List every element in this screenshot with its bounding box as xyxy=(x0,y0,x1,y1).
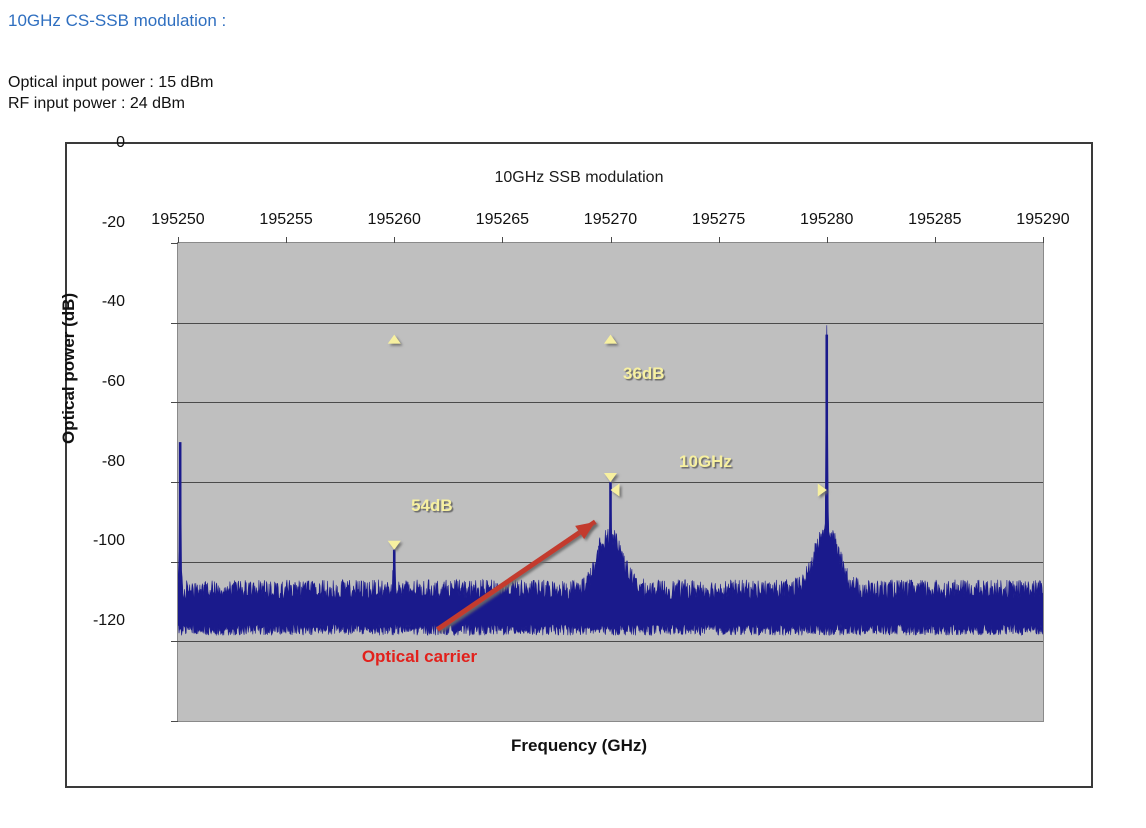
y-axis-label: Optical power (dB) xyxy=(59,293,79,444)
y-tick-label: -20 xyxy=(102,214,125,232)
y-tick-mark xyxy=(171,482,178,483)
optical-carrier-label: Optical carrier xyxy=(362,647,477,667)
x-tick-label: 195260 xyxy=(368,211,421,229)
annotation-overlay xyxy=(178,243,1043,721)
y-tick-label: -80 xyxy=(102,453,125,471)
y-tick-label: -40 xyxy=(102,293,125,311)
y-tick-mark xyxy=(171,243,178,244)
x-axis-label: Frequency (GHz) xyxy=(67,736,1091,756)
y-tick-mark xyxy=(171,402,178,403)
plot-area: 1952501952551952601952651952701952751952… xyxy=(177,242,1044,722)
x-tick-label: 195250 xyxy=(151,211,204,229)
x-tick-mark xyxy=(1043,237,1044,243)
y-tick-label: -60 xyxy=(102,373,125,391)
x-tick-label: 195270 xyxy=(584,211,637,229)
y-tick-mark xyxy=(171,641,178,642)
arrow-head xyxy=(388,541,401,550)
x-tick-label: 195255 xyxy=(259,211,312,229)
arrow-head xyxy=(611,483,620,496)
chart-frame: 10GHz SSB modulation 1952501952551952601… xyxy=(65,142,1093,788)
y-tick-label: 0 xyxy=(116,134,125,152)
x-tick-label: 195280 xyxy=(800,211,853,229)
y-axis-ticks: 0-20-40-60-80-100-120 xyxy=(55,144,125,786)
optical-carrier-arrow xyxy=(438,522,596,630)
label-10ghz: 10GHz xyxy=(679,452,732,472)
arrow-head xyxy=(388,335,401,344)
label-54db: 54dB xyxy=(411,496,453,516)
y-tick-mark xyxy=(171,562,178,563)
arrow-head xyxy=(604,335,617,344)
label-36db: 36dB xyxy=(623,364,665,384)
y-tick-mark xyxy=(171,721,178,722)
optical-input-power-text: Optical input power : 15 dBm xyxy=(8,74,213,92)
arrow-head xyxy=(818,483,827,496)
page-heading: 10GHz CS-SSB modulation : xyxy=(8,11,226,31)
chart-title: 10GHz SSB modulation xyxy=(67,169,1091,187)
x-tick-label: 195275 xyxy=(692,211,745,229)
y-tick-label: -100 xyxy=(93,532,125,550)
y-tick-label: -120 xyxy=(93,612,125,630)
rf-input-power-text: RF input power : 24 dBm xyxy=(8,95,185,113)
y-tick-mark xyxy=(171,323,178,324)
x-tick-label: 195285 xyxy=(908,211,961,229)
x-tick-label: 195265 xyxy=(476,211,529,229)
arrow-head xyxy=(604,473,617,482)
x-tick-label: 195290 xyxy=(1016,211,1069,229)
